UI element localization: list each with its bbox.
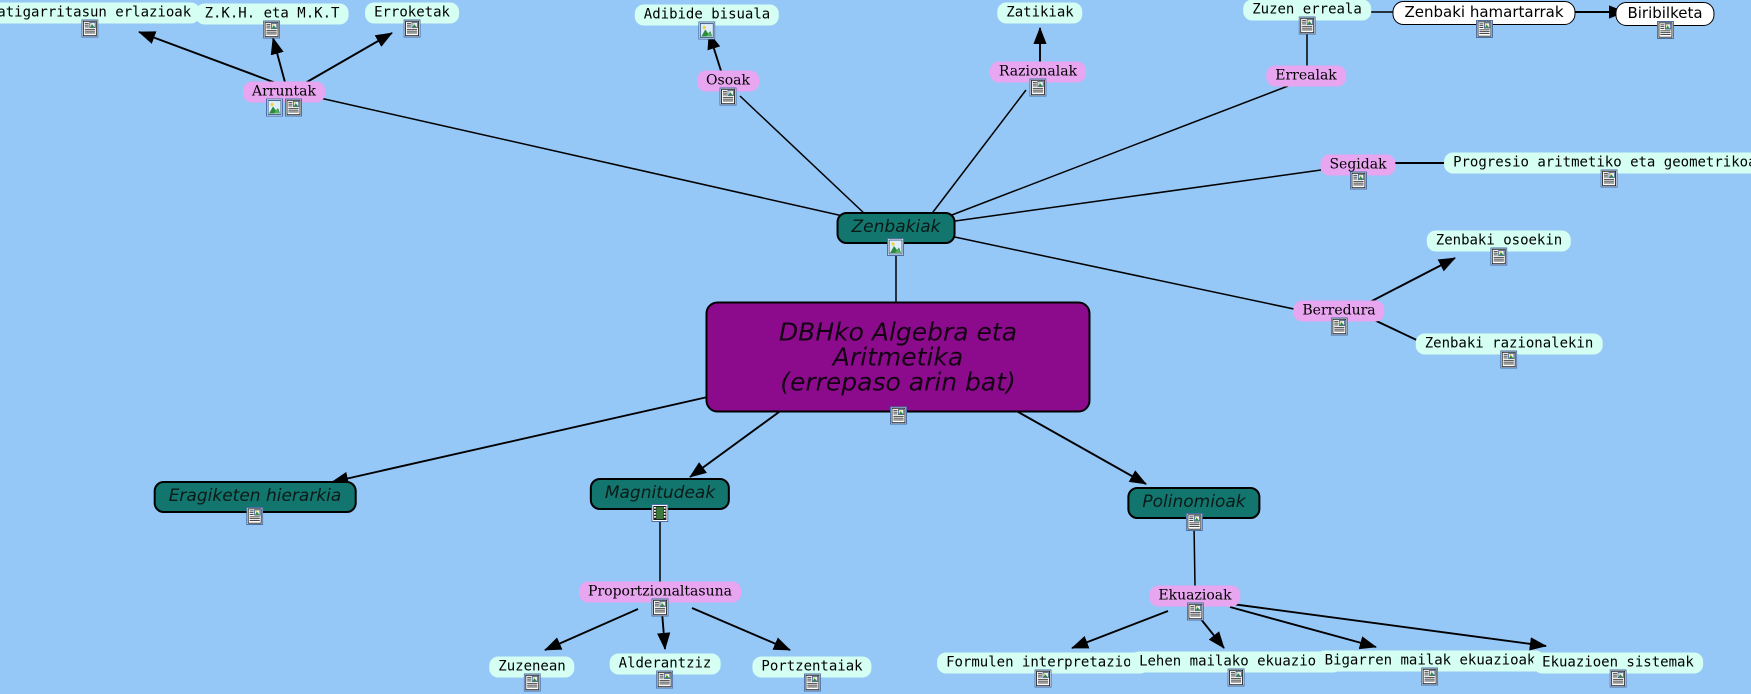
node-arruntak[interactable]: Arruntak	[243, 82, 325, 103]
document-icon-wrap[interactable]	[1330, 318, 1347, 336]
document-icon-wrap[interactable]	[81, 20, 98, 38]
document-icon	[719, 88, 736, 106]
node-label-zuzenean: Zuzenean	[498, 660, 565, 674]
node-label-root: DBHko Algebra eta Aritmetika (errepaso a…	[734, 320, 1063, 395]
document-icon-wrap[interactable]	[890, 407, 907, 425]
node-zatigarritasun-erlazioak[interactable]: Zatigarritasun erlazioak	[0, 3, 200, 24]
node-label-osoak: Osoak	[706, 74, 750, 88]
document-icon	[804, 674, 821, 692]
node-segidak[interactable]: Segidak	[1320, 155, 1395, 176]
document-icon-wrap[interactable]	[1500, 351, 1517, 369]
document-icon-wrap[interactable]	[1187, 603, 1204, 621]
node-progresio-aritmetiko[interactable]: Progresio aritmetiko eta geometrikoak	[1444, 153, 1751, 174]
document-icon	[1475, 20, 1492, 38]
node-label-zenbaki-hamartarrak: Zenbaki hamartarrak	[1404, 5, 1563, 20]
document-icon	[263, 21, 280, 39]
node-attachments-zenbaki-osoekin[interactable]	[1491, 248, 1508, 266]
node-attachments-erroketak[interactable]	[403, 20, 420, 38]
node-root[interactable]: DBHko Algebra eta Aritmetika (errepaso a…	[706, 302, 1091, 413]
node-proportzionaltasuna[interactable]: Proportzionaltasuna	[579, 582, 741, 603]
node-formulen-interpretazioa[interactable]: Formulen interpretazioa	[937, 653, 1149, 674]
node-label-segidak: Segidak	[1329, 158, 1386, 172]
document-icon-wrap[interactable]	[1035, 670, 1052, 688]
node-errealak[interactable]: Errealak	[1266, 66, 1346, 87]
node-attachments-eragiketen-hierarkia[interactable]	[246, 507, 263, 525]
document-icon-wrap[interactable]	[403, 20, 420, 38]
document-icon-wrap[interactable]	[1422, 668, 1439, 686]
node-label-zatigarritasun-erlazioak: Zatigarritasun erlazioak	[0, 6, 191, 20]
node-label-zenbaki-osoekin: Zenbaki osoekin	[1436, 234, 1562, 248]
node-attachments-alderantziz[interactable]	[657, 671, 674, 689]
document-icon	[403, 20, 420, 38]
document-icon-wrap[interactable]	[1228, 669, 1245, 687]
node-attachments-zuzenean[interactable]	[524, 674, 541, 692]
node-attachments-arruntak[interactable]	[266, 99, 302, 117]
node-label-ekuazioen-sistemak: Ekuazioen sistemak	[1542, 656, 1694, 670]
node-attachments-adibide-bisuala[interactable]	[699, 22, 716, 40]
node-attachments-osoak[interactable]	[719, 88, 736, 106]
node-label-formulen-interpretazioa: Formulen interpretazioa	[946, 656, 1140, 670]
node-attachments-segidak[interactable]	[1349, 172, 1366, 190]
document-icon-wrap[interactable]	[246, 507, 263, 525]
node-bigarren-mailak-ekuazioak[interactable]: Bigarren mailak ekuazioak	[1316, 651, 1545, 672]
node-berredura[interactable]: Berredura	[1293, 301, 1384, 322]
node-label-zuzen-erreala: Zuzen erreala	[1252, 3, 1362, 17]
node-label-errealak: Errealak	[1275, 69, 1337, 83]
node-zenbaki-razionalekin[interactable]: Zenbaki razionalekin	[1416, 334, 1603, 355]
node-label-lehen-mailako-ekuazioak: Lehen mailako ekuazioak	[1139, 655, 1333, 669]
node-attachments-zkh-eta-mkt[interactable]	[263, 21, 280, 39]
node-zenbaki-osoekin[interactable]: Zenbaki osoekin	[1427, 231, 1571, 252]
node-alderantziz[interactable]: Alderantziz	[610, 654, 721, 675]
node-label-adibide-bisuala: Adibide bisuala	[644, 8, 770, 22]
document-icon	[1330, 318, 1347, 336]
document-icon	[1298, 17, 1315, 35]
edge-berredura-to-zenbaki-osoekin	[1368, 258, 1455, 303]
node-label-proportzionaltasuna: Proportzionaltasuna	[588, 585, 732, 599]
image-icon-wrap[interactable]	[266, 99, 283, 117]
node-attachments-progresio-aritmetiko[interactable]	[1601, 170, 1618, 188]
document-icon	[1228, 669, 1245, 687]
node-attachments-proportzionaltasuna[interactable]	[651, 599, 668, 617]
node-attachments-zenbaki-hamartarrak[interactable]	[1475, 20, 1492, 38]
edge-polinomioak-to-ekuazioak	[1194, 525, 1195, 586]
edge-proportzionaltasuna-to-zuzenean	[545, 609, 638, 650]
document-icon	[1491, 248, 1508, 266]
document-icon-wrap[interactable]	[1475, 20, 1492, 38]
document-icon	[1035, 670, 1052, 688]
document-icon-wrap[interactable]	[1029, 79, 1046, 97]
node-eragiketen-hierarkia[interactable]: Eragiketen hierarkia	[154, 481, 357, 513]
document-icon-wrap[interactable]	[1491, 248, 1508, 266]
node-zkh-eta-mkt[interactable]: Z.K.H. eta M.K.T	[196, 4, 349, 25]
image-icon-wrap[interactable]	[699, 22, 716, 40]
document-icon-wrap[interactable]	[1610, 670, 1627, 688]
document-icon	[246, 507, 263, 525]
edge-root-to-polinomioak	[1004, 404, 1146, 484]
node-polinomioak[interactable]: Polinomioak	[1127, 487, 1260, 519]
node-attachments-magnitudeak[interactable]	[651, 504, 668, 522]
node-ekuazioen-sistemak[interactable]: Ekuazioen sistemak	[1533, 653, 1703, 674]
image-icon	[699, 22, 716, 40]
node-attachments-zuzen-erreala[interactable]	[1298, 17, 1315, 35]
node-label-arruntak: Arruntak	[252, 85, 316, 99]
node-attachments-root[interactable]	[890, 407, 907, 425]
node-label-bigarren-mailak-ekuazioak: Bigarren mailak ekuazioak	[1325, 654, 1536, 668]
document-icon	[524, 674, 541, 692]
document-icon-wrap[interactable]	[1349, 172, 1366, 190]
document-icon-wrap[interactable]	[524, 674, 541, 692]
edge-ekuazioak-to-ekuazioen-sistemak	[1232, 604, 1546, 646]
document-icon-wrap[interactable]	[1298, 17, 1315, 35]
document-icon	[651, 599, 668, 617]
node-ekuazioak[interactable]: Ekuazioak	[1149, 586, 1240, 607]
node-label-eragiketen-hierarkia: Eragiketen hierarkia	[169, 488, 342, 505]
document-icon-wrap[interactable]	[719, 88, 736, 106]
edge-root-to-eragiketen-hierarkia	[332, 396, 712, 482]
node-label-erroketak: Erroketak	[374, 6, 450, 20]
mindmap-canvas: DBHko Algebra eta Aritmetika (errepaso a…	[0, 0, 1751, 694]
node-biribilketa[interactable]: Biribilketa	[1615, 2, 1714, 26]
node-label-portzentaiak: Portzentaiak	[761, 660, 862, 674]
node-label-biribilketa: Biribilketa	[1627, 6, 1702, 21]
edge-root-to-magnitudeak	[690, 404, 790, 477]
node-attachments-portzentaiak[interactable]	[804, 674, 821, 692]
document-icon-wrap[interactable]	[1601, 170, 1618, 188]
node-label-polinomioak: Polinomioak	[1142, 494, 1245, 511]
edge-razionalak-to-zenbakiak	[930, 90, 1026, 216]
edge-arruntak-to-zenbakiak	[320, 98, 843, 216]
node-attachments-zenbaki-razionalekin[interactable]	[1500, 351, 1517, 369]
document-icon	[1422, 668, 1439, 686]
node-zuzenean[interactable]: Zuzenean	[489, 657, 574, 678]
node-attachments-ekuazioak[interactable]	[1187, 603, 1204, 621]
node-attachments-razionalak[interactable]	[1029, 79, 1046, 97]
node-attachments-bigarren-mailak-ekuazioak[interactable]	[1422, 668, 1439, 686]
edge-zenbakiak-to-segidak	[948, 170, 1321, 222]
image-icon-wrap[interactable]	[887, 238, 904, 256]
film-icon-wrap[interactable]	[651, 504, 668, 522]
node-osoak[interactable]: Osoak	[697, 71, 759, 92]
node-adibide-bisuala[interactable]: Adibide bisuala	[635, 5, 779, 26]
node-label-zenbaki-razionalekin: Zenbaki razionalekin	[1425, 337, 1594, 351]
node-label-zkh-eta-mkt: Z.K.H. eta M.K.T	[205, 7, 340, 21]
node-attachments-lehen-mailako-ekuazioak[interactable]	[1228, 669, 1245, 687]
document-icon	[81, 20, 98, 38]
edge-errealak-to-zenbakiak	[944, 86, 1288, 218]
edge-proportzionaltasuna-to-portzentaiak	[692, 608, 790, 650]
document-icon-wrap[interactable]	[1185, 513, 1202, 531]
node-label-zatikiak: Zatikiak	[1006, 6, 1073, 20]
image-icon	[266, 99, 283, 117]
document-icon	[285, 99, 302, 117]
node-attachments-zatigarritasun-erlazioak[interactable]	[81, 20, 98, 38]
node-razionalak[interactable]: Razionalak	[990, 62, 1086, 83]
node-attachments-ekuazioen-sistemak[interactable]	[1610, 670, 1627, 688]
document-icon-wrap[interactable]	[263, 21, 280, 39]
document-icon-wrap[interactable]	[657, 671, 674, 689]
node-portzentaiak[interactable]: Portzentaiak	[752, 657, 871, 678]
node-label-zenbakiak: Zenbakiak	[852, 219, 941, 236]
edge-arruntak-to-erroketak	[300, 33, 392, 86]
node-lehen-mailako-ekuazioak[interactable]: Lehen mailako ekuazioak	[1130, 652, 1342, 673]
document-icon-wrap[interactable]	[285, 99, 302, 117]
edge-arruntak-to-zkh-eta-mkt	[273, 38, 286, 86]
node-zenbaki-hamartarrak[interactable]: Zenbaki hamartarrak	[1392, 1, 1575, 25]
document-icon	[1500, 351, 1517, 369]
edge-arruntak-to-zatigarritasun-erlazioak	[139, 32, 284, 86]
node-zenbakiak[interactable]: Zenbakiak	[837, 212, 956, 244]
film-icon	[651, 504, 668, 522]
node-attachments-formulen-interpretazioa[interactable]	[1035, 670, 1052, 688]
document-icon	[1349, 172, 1366, 190]
node-label-progresio-aritmetiko: Progresio aritmetiko eta geometrikoak	[1453, 156, 1751, 170]
edge-proportzionaltasuna-to-alderantziz	[662, 612, 665, 649]
node-attachments-biribilketa[interactable]	[1656, 21, 1673, 39]
document-icon	[890, 407, 907, 425]
node-label-magnitudeak: Magnitudeak	[605, 485, 715, 502]
document-icon-wrap[interactable]	[804, 674, 821, 692]
node-attachments-berredura[interactable]	[1330, 318, 1347, 336]
node-label-ekuazioak: Ekuazioak	[1158, 589, 1231, 603]
document-icon	[1656, 21, 1673, 39]
document-icon	[657, 671, 674, 689]
document-icon-wrap[interactable]	[1656, 21, 1673, 39]
document-icon	[1610, 670, 1627, 688]
image-icon	[887, 238, 904, 256]
node-label-razionalak: Razionalak	[999, 65, 1077, 79]
node-label-berredura: Berredura	[1302, 304, 1375, 318]
edge-ekuazioak-to-bigarren-mailak-ekuazioak	[1230, 607, 1376, 647]
document-icon	[1187, 603, 1204, 621]
document-icon	[1029, 79, 1046, 97]
node-magnitudeak[interactable]: Magnitudeak	[590, 478, 730, 510]
document-icon	[1185, 513, 1202, 531]
node-erroketak[interactable]: Erroketak	[365, 3, 459, 24]
edge-ekuazioak-to-formulen-interpretazioa	[1072, 611, 1168, 648]
document-icon	[1601, 170, 1618, 188]
edge-osoak-to-zenbakiak	[740, 96, 866, 215]
node-zuzen-erreala[interactable]: Zuzen erreala	[1243, 0, 1371, 21]
node-attachments-zenbakiak[interactable]	[887, 238, 904, 256]
document-icon-wrap[interactable]	[651, 599, 668, 617]
node-zatikiak[interactable]: Zatikiak	[997, 3, 1082, 24]
node-attachments-polinomioak[interactable]	[1185, 513, 1202, 531]
node-label-alderantziz: Alderantziz	[619, 657, 712, 671]
